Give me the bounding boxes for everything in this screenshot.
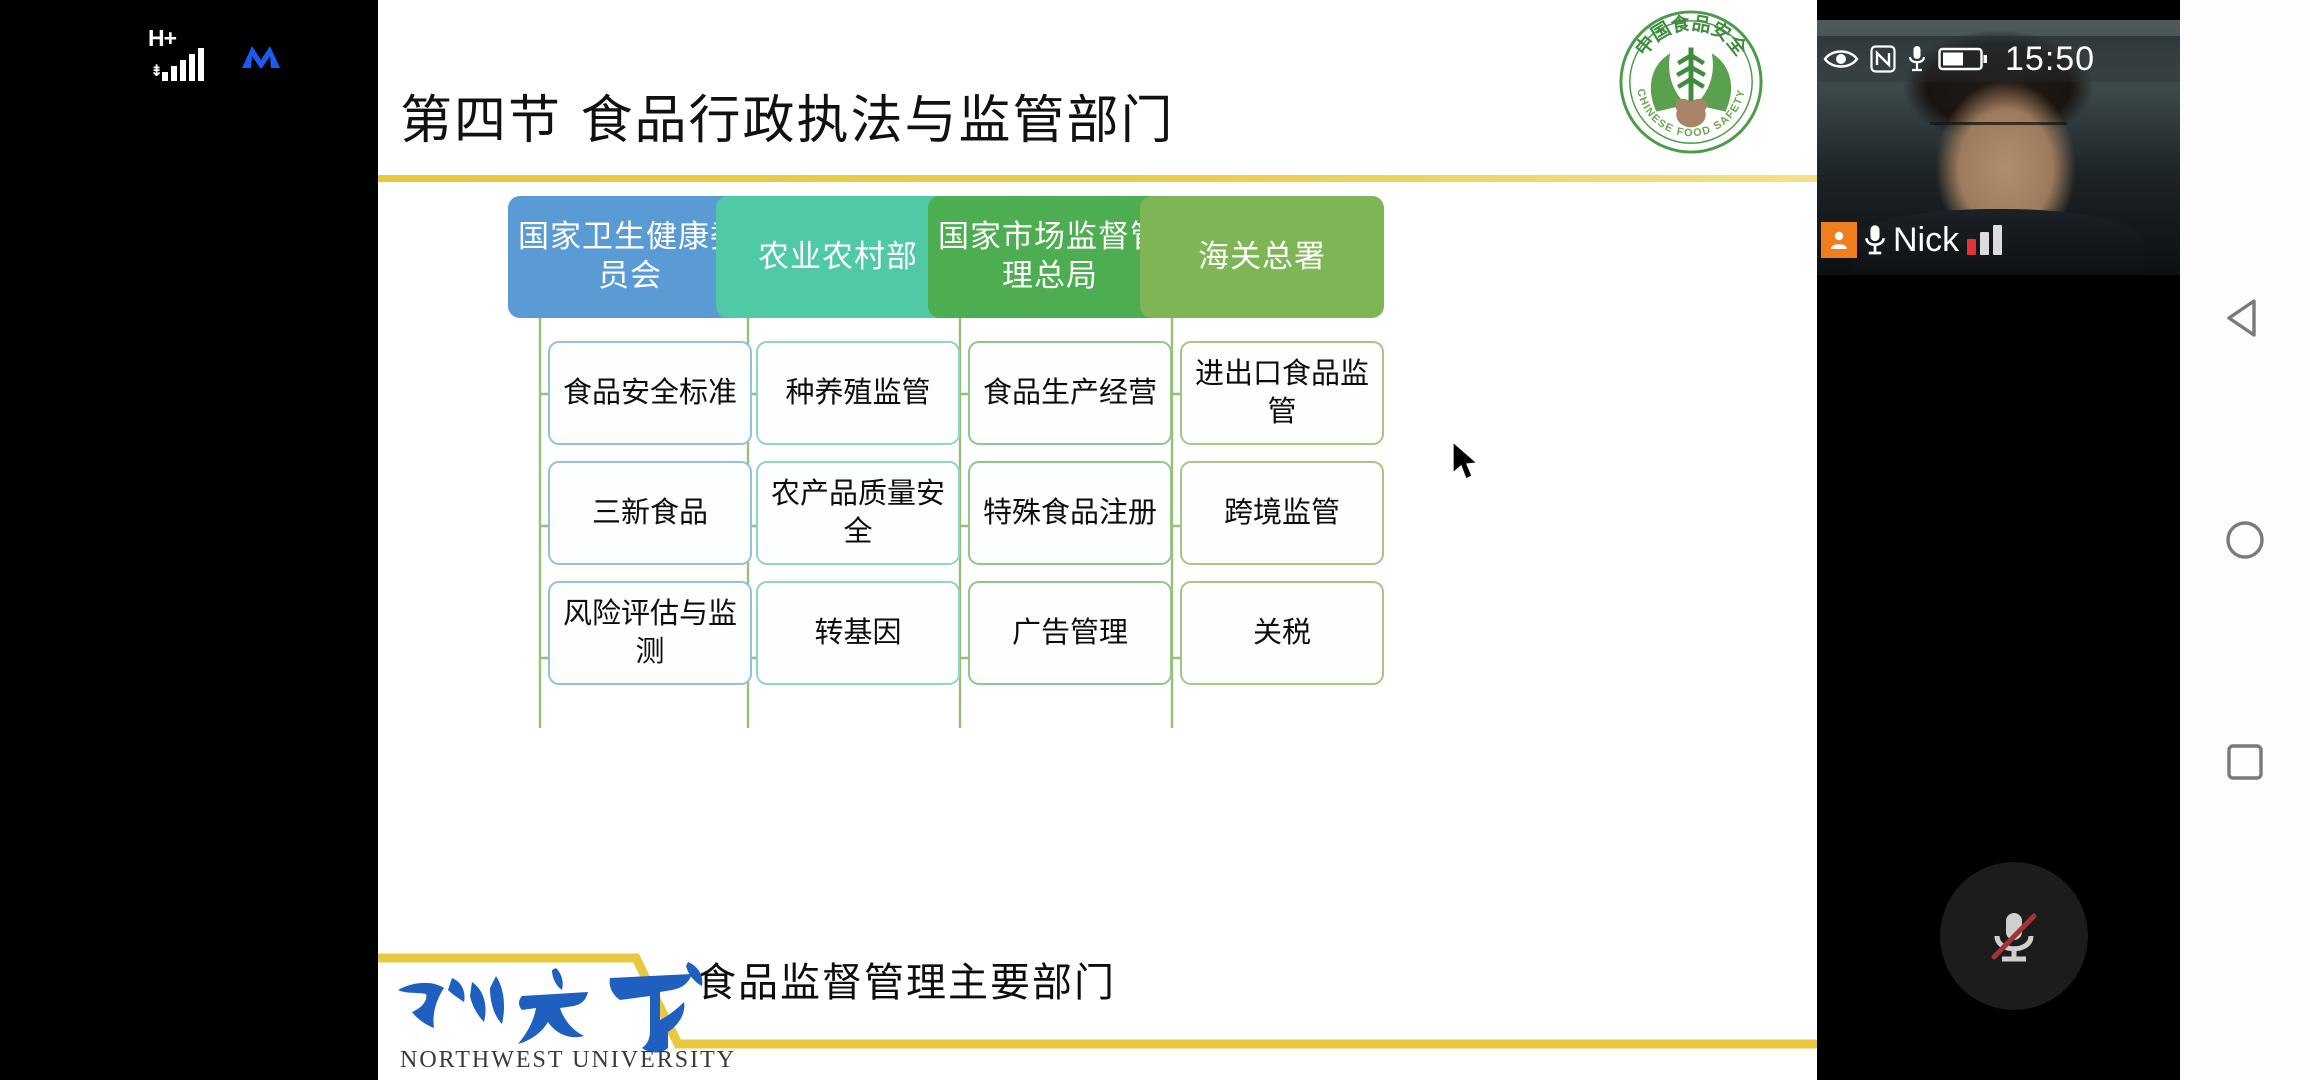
signal-bars-icon [162,48,204,81]
glasses-shape [1930,122,2068,140]
department-children-3: 进出口食品监管 跨境监管 关税 [1140,341,1398,685]
department-item[interactable]: 进出口食品监管 [1180,341,1384,445]
signal-indicator: H+ ⇟ [148,25,214,85]
meitu-app-icon [240,38,282,72]
battery-icon [1938,46,1988,72]
home-circle-icon[interactable] [2216,511,2274,569]
department-item[interactable]: 跨境监管 [1180,461,1384,565]
participant-name: Nick [1893,221,1959,260]
clock-time: 15:50 [2005,40,2095,79]
screen-root: H+ ⇟ 第四节 食品行政执法与监管部门 中国 [0,0,2310,1080]
department-header-1[interactable]: 农业农村部 [716,196,960,318]
person-icon [1821,222,1857,258]
department-header-2[interactable]: 国家市场监督管理总局 [928,196,1172,318]
presentation-slide: 第四节 食品行政执法与监管部门 中国食品安全 CHINESE FOOD SAFE… [378,0,1817,1080]
nfc-icon [1870,45,1896,73]
title-divider [378,175,1817,182]
recents-square-icon[interactable] [2216,733,2274,791]
chinese-food-safety-emblem: 中国食品安全 CHINESE FOOD SAFETY [1617,8,1765,156]
audio-level-icon [1967,225,2002,255]
department-header-3[interactable]: 海关总署 [1140,196,1384,318]
chart-column-3: 海关总署 进出口食品监管 跨境监管 关税 [1140,196,1398,685]
department-item[interactable]: 关税 [1180,581,1384,685]
org-chart: 国家卫生健康委员会 食品安全标准 三新食品 风险评估与监测 农业农村部 种养殖监… [378,196,1817,876]
microphone-icon [1907,44,1927,74]
university-en-name: NORTHWEST UNIVERSITY [400,1047,736,1074]
microphone-muted-icon [1977,899,2051,973]
microphone-icon [1863,223,1887,257]
page-title: 第四节 食品行政执法与监管部门 [400,78,1175,153]
mute-toggle-button[interactable] [1940,862,2088,1010]
mouse-cursor [1450,440,1484,484]
participant-video-tile[interactable]: 15:50 Nick [1817,20,2180,275]
eye-icon [1823,46,1859,72]
phone-status-bar-left: H+ ⇟ [0,0,378,110]
participant-name-bar: Nick [1817,217,2002,263]
background-filler-left [0,110,378,1080]
video-status-bar: 15:50 [1817,36,2180,82]
back-triangle-icon[interactable] [2216,289,2274,347]
android-navigation-bar [2180,0,2310,1080]
